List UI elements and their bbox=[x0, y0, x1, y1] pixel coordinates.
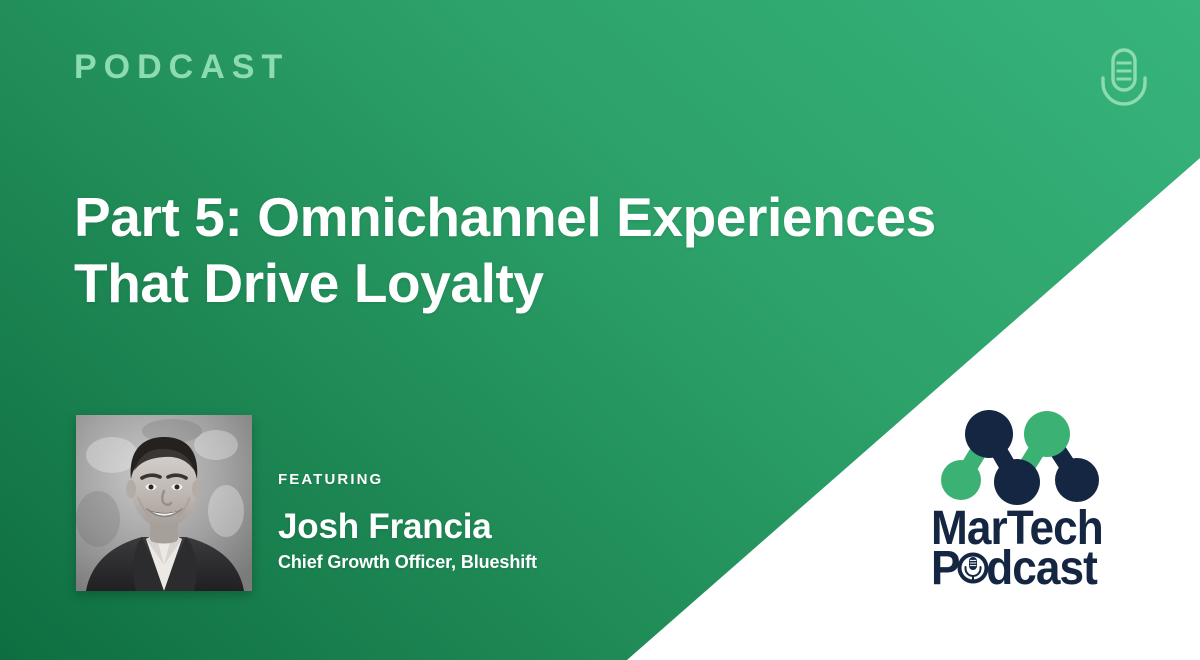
microphone-icon bbox=[1092, 46, 1156, 112]
episode-title-line-2: That Drive Loyalty bbox=[74, 250, 1074, 316]
guest-headshot-photo bbox=[76, 415, 252, 591]
logo-wordmark-podcast-rest: dcast bbox=[986, 540, 1097, 590]
martech-podcast-logo: MarTech P dcast bbox=[931, 404, 1127, 590]
featuring-block: FEATURING Josh Francia Chief Growth Offi… bbox=[278, 472, 537, 571]
logo-wordmark-podcast-p: P bbox=[931, 540, 960, 590]
guest-role: Chief Growth Officer, Blueshift bbox=[278, 553, 537, 571]
episode-title-line-1: Part 5: Omnichannel Experiences bbox=[74, 184, 1074, 250]
podcast-cover-canvas: PODCAST Part 5: Omnichannel Experiences … bbox=[0, 0, 1200, 660]
podcast-eyebrow-label: PODCAST bbox=[74, 50, 289, 84]
episode-title: Part 5: Omnichannel Experiences That Dri… bbox=[74, 184, 1074, 316]
featuring-label: FEATURING bbox=[278, 472, 537, 487]
martech-node-m-mark bbox=[941, 410, 1099, 505]
microphone-icon bbox=[958, 553, 989, 584]
guest-name: Josh Francia bbox=[278, 509, 537, 544]
